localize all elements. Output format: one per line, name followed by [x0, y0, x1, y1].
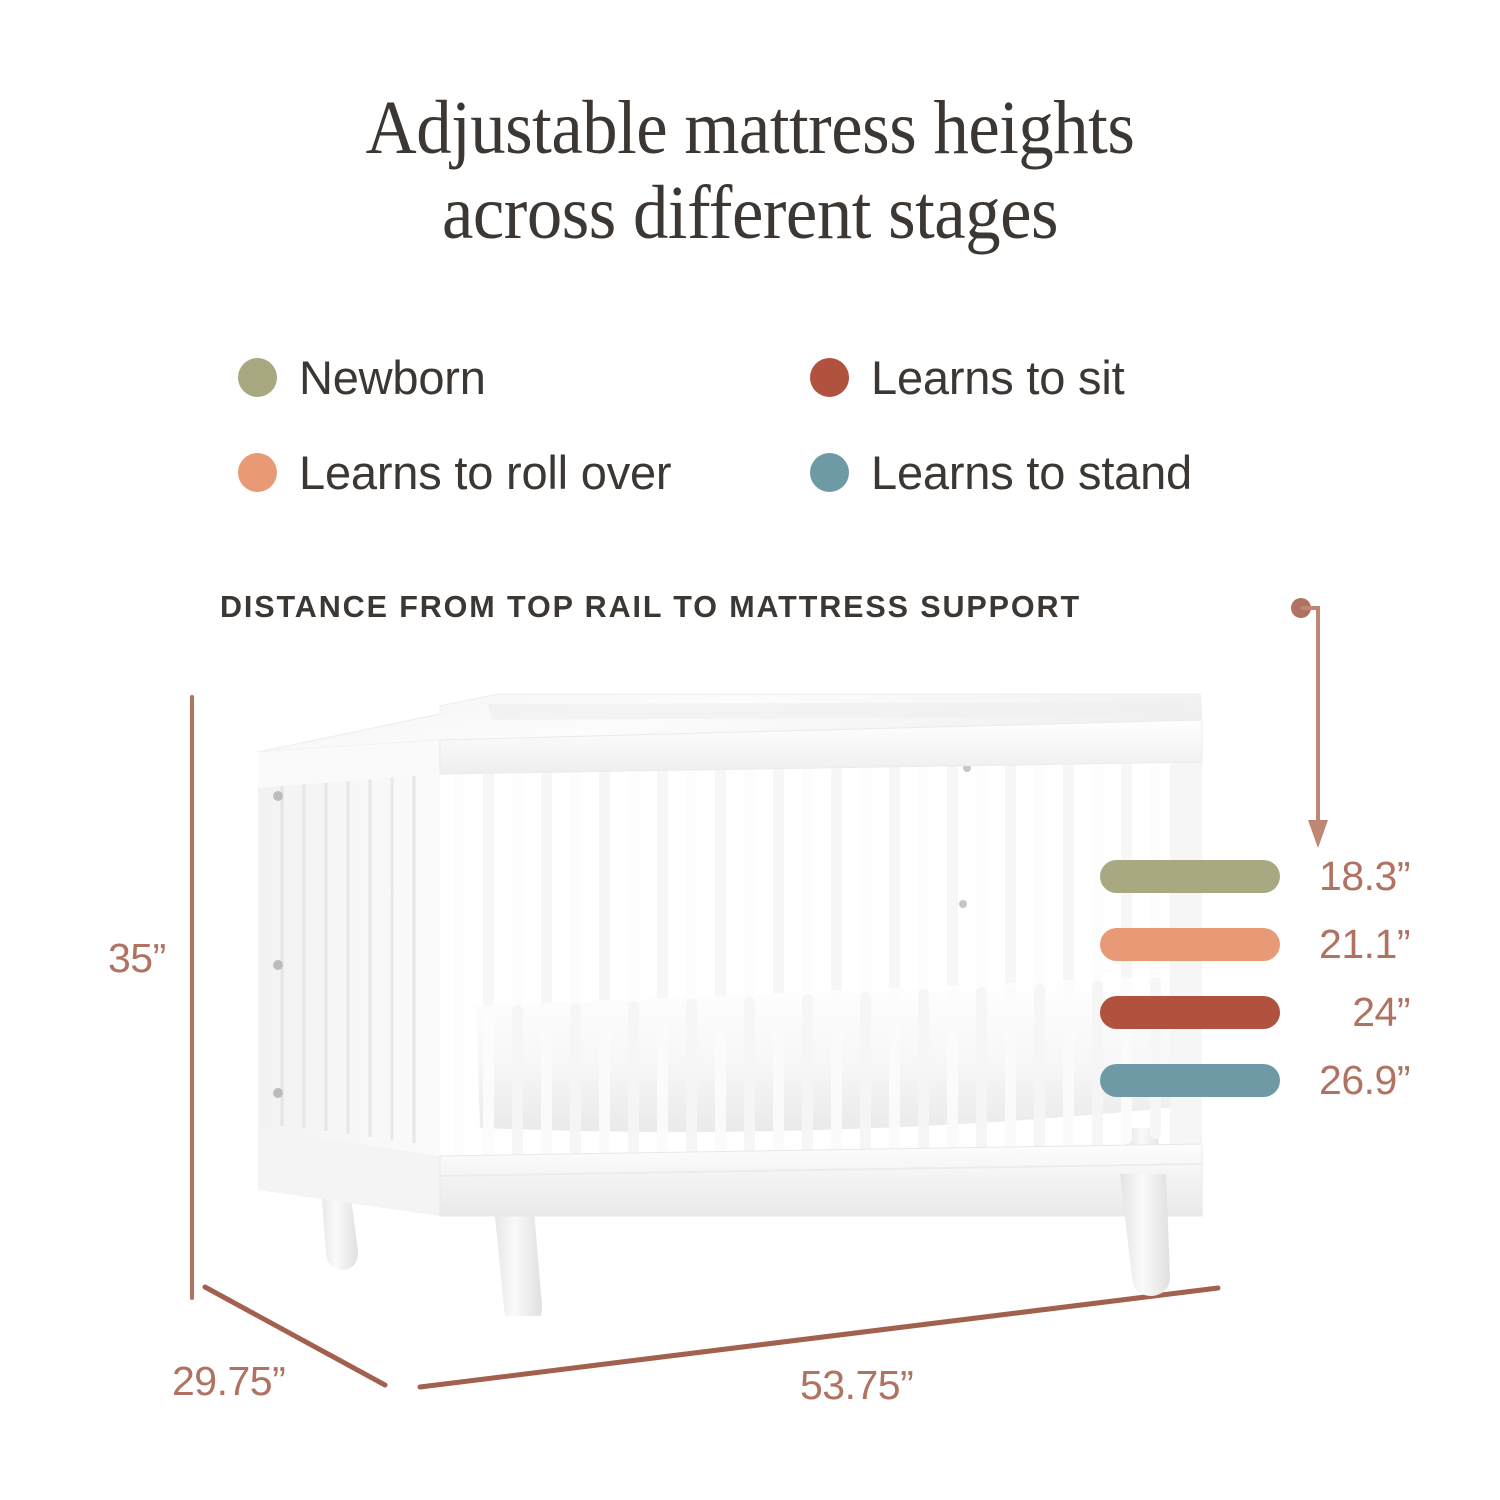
- mattress-height-row-newborn: 18.3”: [1100, 860, 1410, 893]
- page-title-line-1: Adjustable mattress heights: [53, 86, 1448, 171]
- legend-item-learns-to-roll-over: Learns to roll over: [238, 425, 810, 520]
- mattress-height-bar: [1100, 1064, 1280, 1097]
- mattress-height-value: 24”: [1280, 992, 1410, 1033]
- crib-leg-front-right: [1120, 1174, 1170, 1296]
- legend-dot-icon: [238, 453, 277, 492]
- dimension-label-height: 35”: [108, 935, 166, 982]
- mattress-height-row-sit: 24”: [1100, 996, 1410, 1029]
- crib-front-screws: [959, 764, 971, 908]
- mattress-height-value: 18.3”: [1280, 856, 1410, 897]
- product-infographic: Adjustable mattress heights across diffe…: [0, 0, 1500, 1500]
- dimension-label-depth: 29.75”: [172, 1358, 285, 1405]
- crib-svg: [240, 676, 1220, 1316]
- mattress-height-row-roll-over: 21.1”: [1100, 928, 1410, 961]
- crib-illustration: [240, 676, 1220, 1316]
- mattress-height-bars: 18.3” 21.1” 24” 26.9”: [1100, 860, 1410, 1100]
- legend-dot-icon: [810, 358, 849, 397]
- legend-dot-icon: [810, 453, 849, 492]
- stage-legend: Newborn Learns to sit Learns to roll ove…: [238, 330, 1298, 520]
- legend-dot-icon: [238, 358, 277, 397]
- mattress-height-value: 21.1”: [1280, 924, 1410, 965]
- mattress-height-bar: [1100, 860, 1280, 893]
- mattress-height-bar: [1100, 928, 1280, 961]
- page-title-line-2: across different stages: [53, 171, 1448, 256]
- mattress-height-row-stand: 26.9”: [1100, 1064, 1410, 1097]
- page-title: Adjustable mattress heights across diffe…: [0, 86, 1500, 256]
- mattress-height-value: 26.9”: [1280, 1060, 1410, 1101]
- crib-base-front-face: [440, 1144, 1202, 1216]
- legend-item-newborn: Newborn: [238, 330, 810, 425]
- legend-item-label: Newborn: [299, 350, 486, 405]
- mattress-support-pointer-arrow: [1288, 596, 1348, 856]
- legend-item-label: Learns to roll over: [299, 445, 671, 500]
- mattress-height-bar: [1100, 996, 1280, 1029]
- diagram-caption: DISTANCE FROM TOP RAIL TO MATTRESS SUPPO…: [220, 590, 1081, 625]
- crib-mattress: [476, 976, 1185, 1132]
- legend-item-learns-to-sit: Learns to sit: [810, 330, 1298, 425]
- legend-item-learns-to-stand: Learns to stand: [810, 425, 1298, 520]
- legend-item-label: Learns to stand: [871, 445, 1192, 500]
- dimension-label-width: 53.75”: [800, 1362, 913, 1409]
- down-arrow-icon: [1288, 596, 1348, 856]
- legend-item-label: Learns to sit: [871, 350, 1124, 405]
